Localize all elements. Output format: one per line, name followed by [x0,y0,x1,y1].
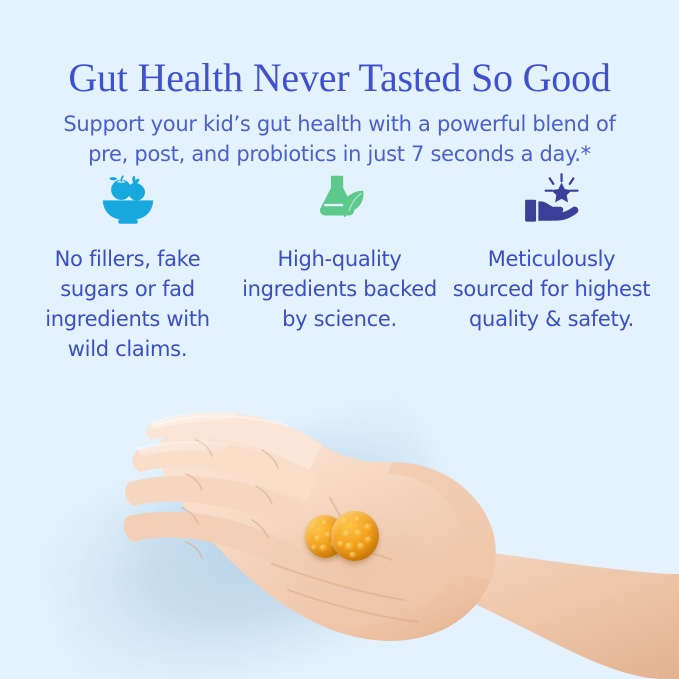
product-photo [0,378,679,679]
subheading-line-1: Support your kid’s gut health with a pow… [35,109,645,139]
feature-item-high-quality: High-quality ingredients backed by scien… [234,166,445,334]
page-title: Gut Health Never Tasted So Good [0,53,679,103]
feature-item-no-fillers: No fillers, fake sugars or fad ingredien… [22,166,233,364]
hand-star-icon [520,166,584,228]
feature-list: No fillers, fake sugars or fad ingredien… [22,166,657,364]
gummy [329,509,382,564]
product-hero-page: Gut Health Never Tasted So Good Support … [0,0,679,679]
feature-text: High-quality ingredients backed by scien… [234,244,445,334]
feature-text: Meticulously sourced for highest quality… [446,244,657,334]
subheading-line-2: pre, post, and probiotics in just 7 seco… [35,139,645,169]
fruit-bowl-icon [97,166,159,228]
feature-text: No fillers, fake sugars or fad ingredien… [22,244,233,364]
feature-item-meticulously-sourced: Meticulously sourced for highest quality… [446,166,657,334]
gummy-pair [303,503,387,569]
subheading: Support your kid’s gut health with a pow… [35,109,645,169]
flask-leaf-icon [311,166,369,228]
